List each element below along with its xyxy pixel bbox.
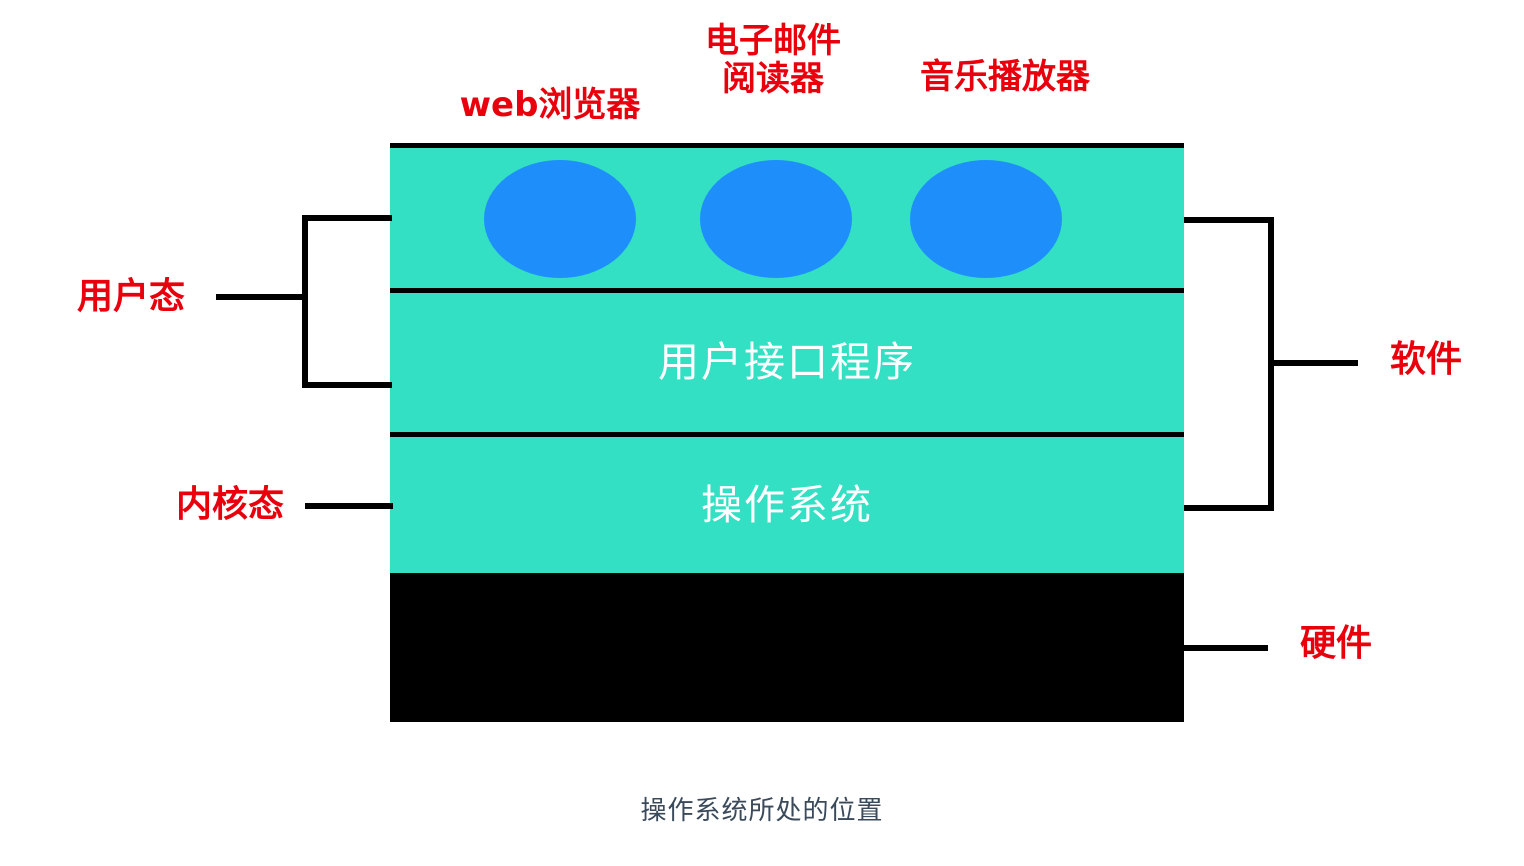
user-mode-leader-line xyxy=(216,294,306,300)
annotation-hardware: 硬件 xyxy=(1300,626,1372,662)
layer-operating-system: 操作系统 xyxy=(390,432,1184,573)
diagram-canvas: web浏览器 电子邮件 阅读器 音乐播放器 用户接口程序 操作系统 用户态 内核… xyxy=(0,0,1524,866)
software-leader-line xyxy=(1268,360,1358,366)
figure-caption: 操作系统所处的位置 xyxy=(0,790,1524,827)
layer-hardware xyxy=(390,573,1184,722)
software-bracket-top-arm xyxy=(1184,217,1274,223)
app-caption-web-browser: web浏览器 xyxy=(440,86,660,124)
app-bubble-email-reader xyxy=(700,160,852,278)
software-bracket-bottom-arm xyxy=(1184,505,1274,511)
layer-label-user-interface: 用户接口程序 xyxy=(658,342,916,383)
annotation-kernel-mode: 内核态 xyxy=(176,487,284,523)
user-mode-bracket-bottom-arm xyxy=(302,382,392,388)
layer-user-interface: 用户接口程序 xyxy=(390,288,1184,432)
hardware-leader-line xyxy=(1184,645,1268,651)
annotation-user-mode: 用户态 xyxy=(77,279,185,315)
layer-label-operating-system: 操作系统 xyxy=(701,485,873,526)
app-caption-music-player: 音乐播放器 xyxy=(890,58,1120,96)
annotation-software: 软件 xyxy=(1390,342,1462,378)
user-mode-bracket-top-arm xyxy=(302,215,392,221)
app-bubble-music-player xyxy=(910,160,1062,278)
kernel-mode-leader-line xyxy=(305,503,393,509)
app-bubble-web-browser xyxy=(484,160,636,278)
app-caption-email-reader: 电子邮件 阅读器 xyxy=(678,22,868,99)
user-mode-bracket-spine xyxy=(302,215,308,388)
